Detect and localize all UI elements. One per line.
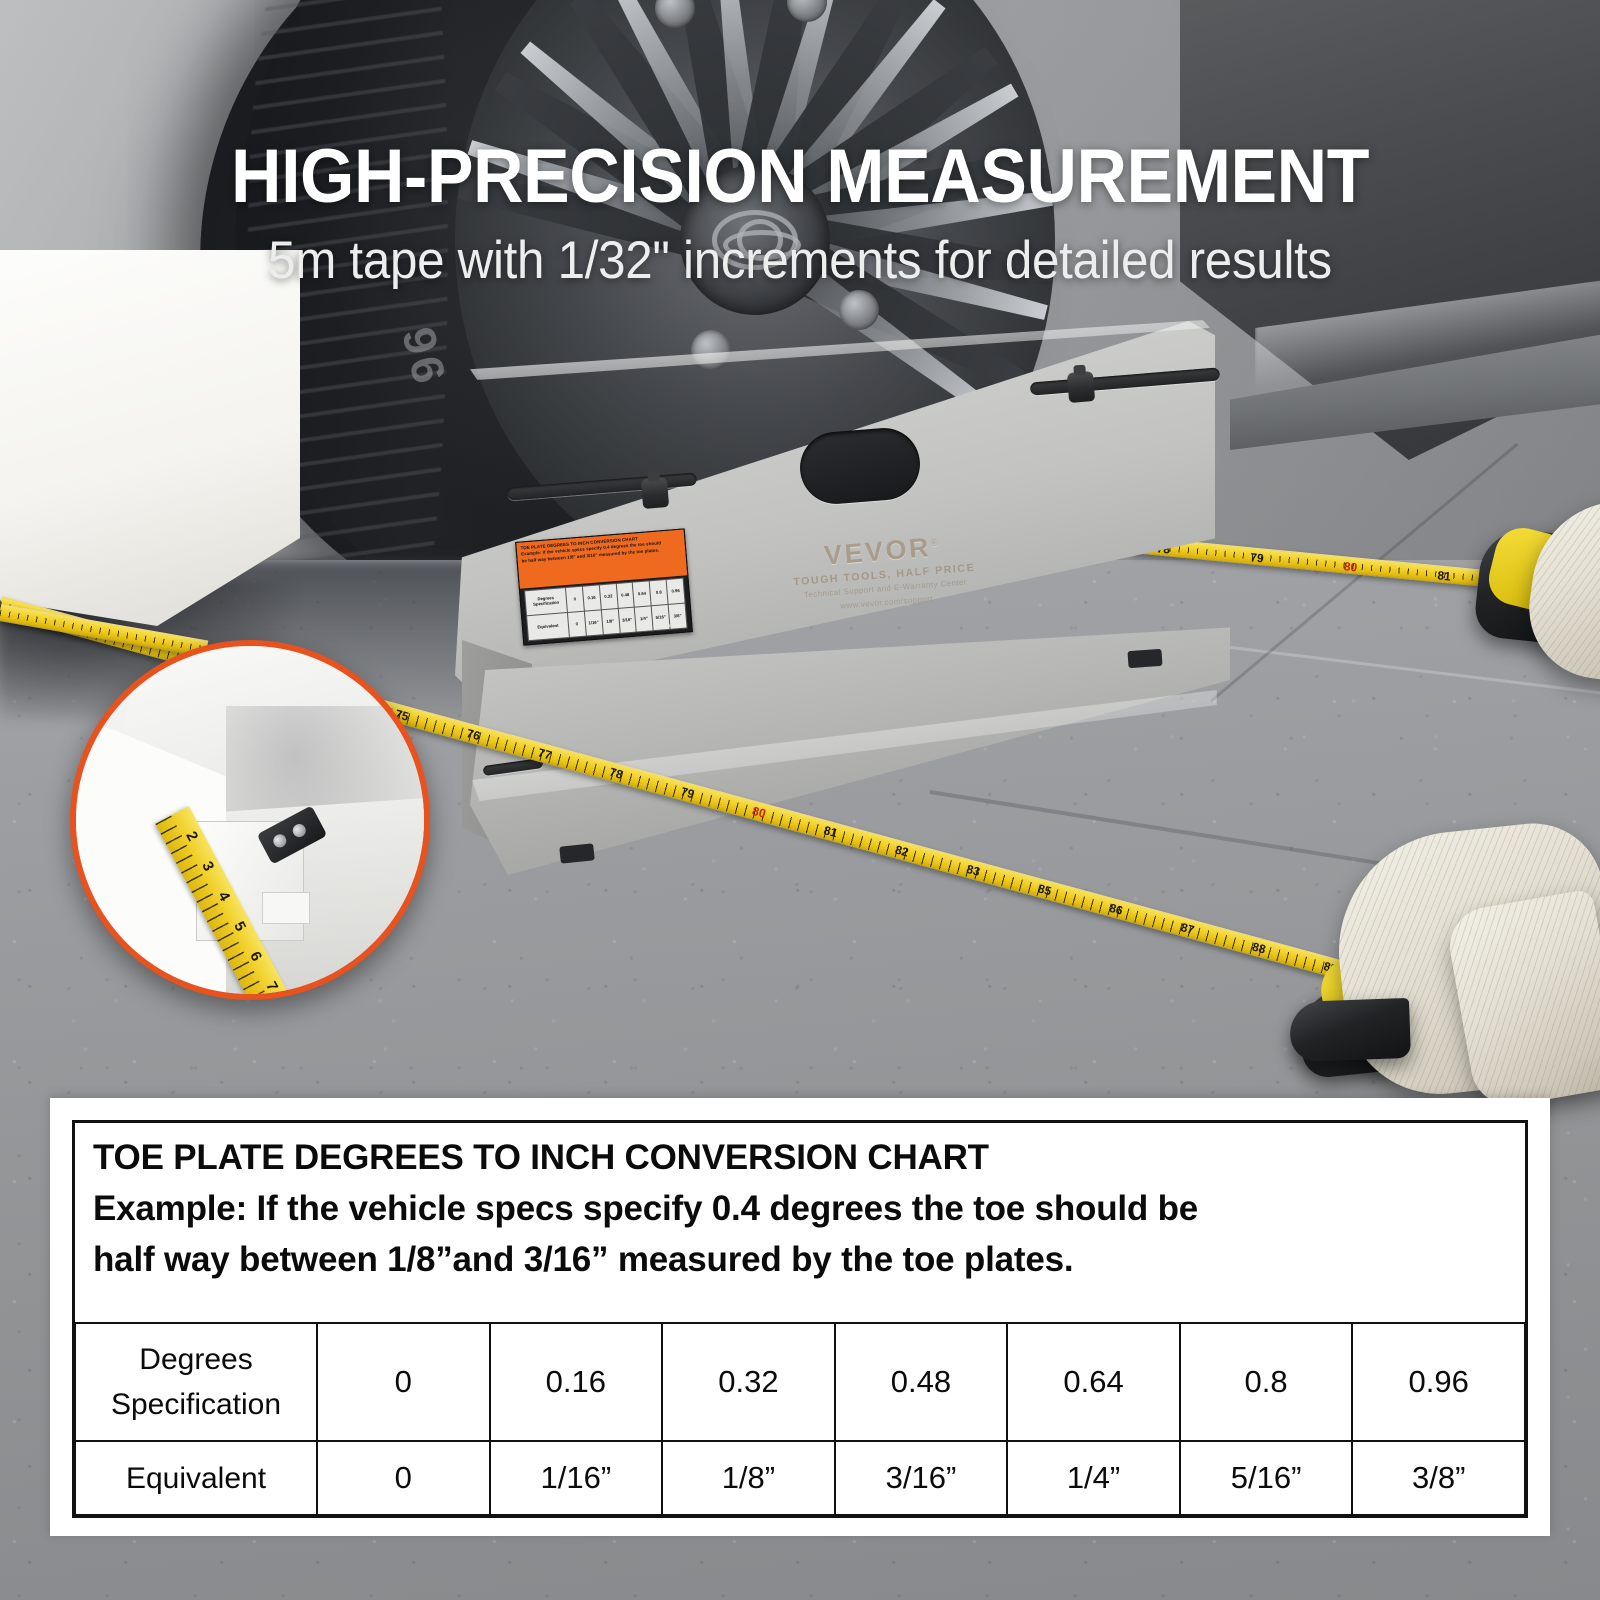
inset-slot-notch — [262, 892, 310, 924]
cell-equivalent-4: 1/4” — [1007, 1441, 1180, 1515]
sticker-cell: 1/8” — [602, 609, 620, 634]
sticker-cell: 0.64 — [633, 581, 651, 606]
sticker-cell: 0.32 — [600, 584, 618, 609]
conversion-chart-header: TOE PLATE DEGREES TO INCH CONVERSION CHA… — [75, 1123, 1525, 1289]
toe-plate-thumbscrew[interactable] — [1067, 371, 1095, 403]
cell-equivalent-5: 5/16” — [1180, 1441, 1353, 1515]
tape-number: 81 — [1437, 568, 1452, 583]
sticker-cell: 1/16” — [585, 610, 603, 635]
cell-degrees-4: 0.64 — [1007, 1323, 1180, 1441]
sticker-cell: 1/4” — [635, 606, 653, 631]
cell-equivalent-6: 3/8” — [1352, 1441, 1525, 1515]
product-marketing-image: 96 — [0, 0, 1600, 1600]
sticker-table: Degrees Specification 0 0.16 0.32 0.48 0… — [524, 578, 688, 642]
cell-degrees-0: 0 — [317, 1323, 490, 1441]
tape-number: 80 — [1343, 559, 1358, 574]
conversion-table: Degrees Specification 0 0.16 0.32 0.48 0… — [74, 1322, 1526, 1516]
cell-equivalent-2: 1/8” — [662, 1441, 835, 1515]
row-header-degrees-line1: Degrees — [76, 1337, 316, 1382]
cell-degrees-6: 0.96 — [1352, 1323, 1525, 1441]
row-header-degrees: Degrees Specification — [75, 1323, 317, 1441]
cell-equivalent-0: 0 — [317, 1441, 490, 1515]
sticker-cell: 0.96 — [667, 579, 685, 604]
sticker-cell: 0 — [568, 612, 586, 637]
headline-subtitle: 5m tape with 1/32" increments for detail… — [56, 230, 1544, 291]
sticker-cell: 0.16 — [583, 585, 601, 610]
cell-degrees-1: 0.16 — [490, 1323, 663, 1441]
sticker-cell: 3/16” — [618, 608, 636, 633]
sticker-row-label-equivalent: Equivalent — [527, 613, 569, 640]
conversion-chart-frame: TOE PLATE DEGREES TO INCH CONVERSION CHA… — [72, 1120, 1528, 1518]
cell-equivalent-1: 1/16” — [490, 1441, 663, 1515]
table-row-degrees: Degrees Specification 0 0.16 0.32 0.48 0… — [75, 1323, 1525, 1441]
cell-degrees-3: 0.48 — [835, 1323, 1008, 1441]
toe-plate-thumbscrew[interactable] — [641, 477, 669, 509]
conversion-chart-panel: TOE PLATE DEGREES TO INCH CONVERSION CHA… — [50, 1098, 1550, 1536]
row-header-equivalent: Equivalent — [75, 1441, 317, 1515]
headline-title: HIGH-PRECISION MEASUREMENT — [64, 138, 1536, 216]
cell-equivalent-3: 3/16” — [835, 1441, 1008, 1515]
toe-plate-conversion-sticker: TOE PLATE DEGREES TO INCH CONVERSION CHA… — [515, 528, 693, 645]
toe-plate-foot-tab — [559, 843, 595, 863]
row-header-degrees-line2: Specification — [76, 1382, 316, 1427]
tape-measure-reel-lower-nose — [1289, 998, 1411, 1062]
table-row-equivalent: Equivalent 0 1/16” 1/8” 3/16” 1/4” 5/16”… — [75, 1441, 1525, 1515]
sticker-row-label-degrees: Degrees Specification — [525, 588, 567, 615]
toe-plate-foot-tab — [1127, 649, 1162, 668]
sticker-cell: 0.8 — [650, 580, 668, 605]
conversion-chart-example-line-2: half way between 1/8”and 3/16” measured … — [93, 1237, 1507, 1283]
tape-number: 79 — [1250, 550, 1265, 565]
detail-zoom-inset: 2 3 4 5 6 7 8 9 — [70, 640, 430, 1000]
sticker-cell: 0.48 — [616, 583, 634, 608]
conversion-chart-example-line-1: Example: If the vehicle specs specify 0.… — [93, 1186, 1507, 1232]
cell-degrees-5: 0.8 — [1180, 1323, 1353, 1441]
conversion-chart-title: TOE PLATE DEGREES TO INCH CONVERSION CHA… — [93, 1137, 1507, 1180]
headline-block: HIGH-PRECISION MEASUREMENT 5m tape with … — [0, 138, 1600, 291]
cell-degrees-2: 0.32 — [662, 1323, 835, 1441]
lug-nut — [839, 290, 879, 330]
sticker-cell: 0 — [566, 587, 584, 612]
